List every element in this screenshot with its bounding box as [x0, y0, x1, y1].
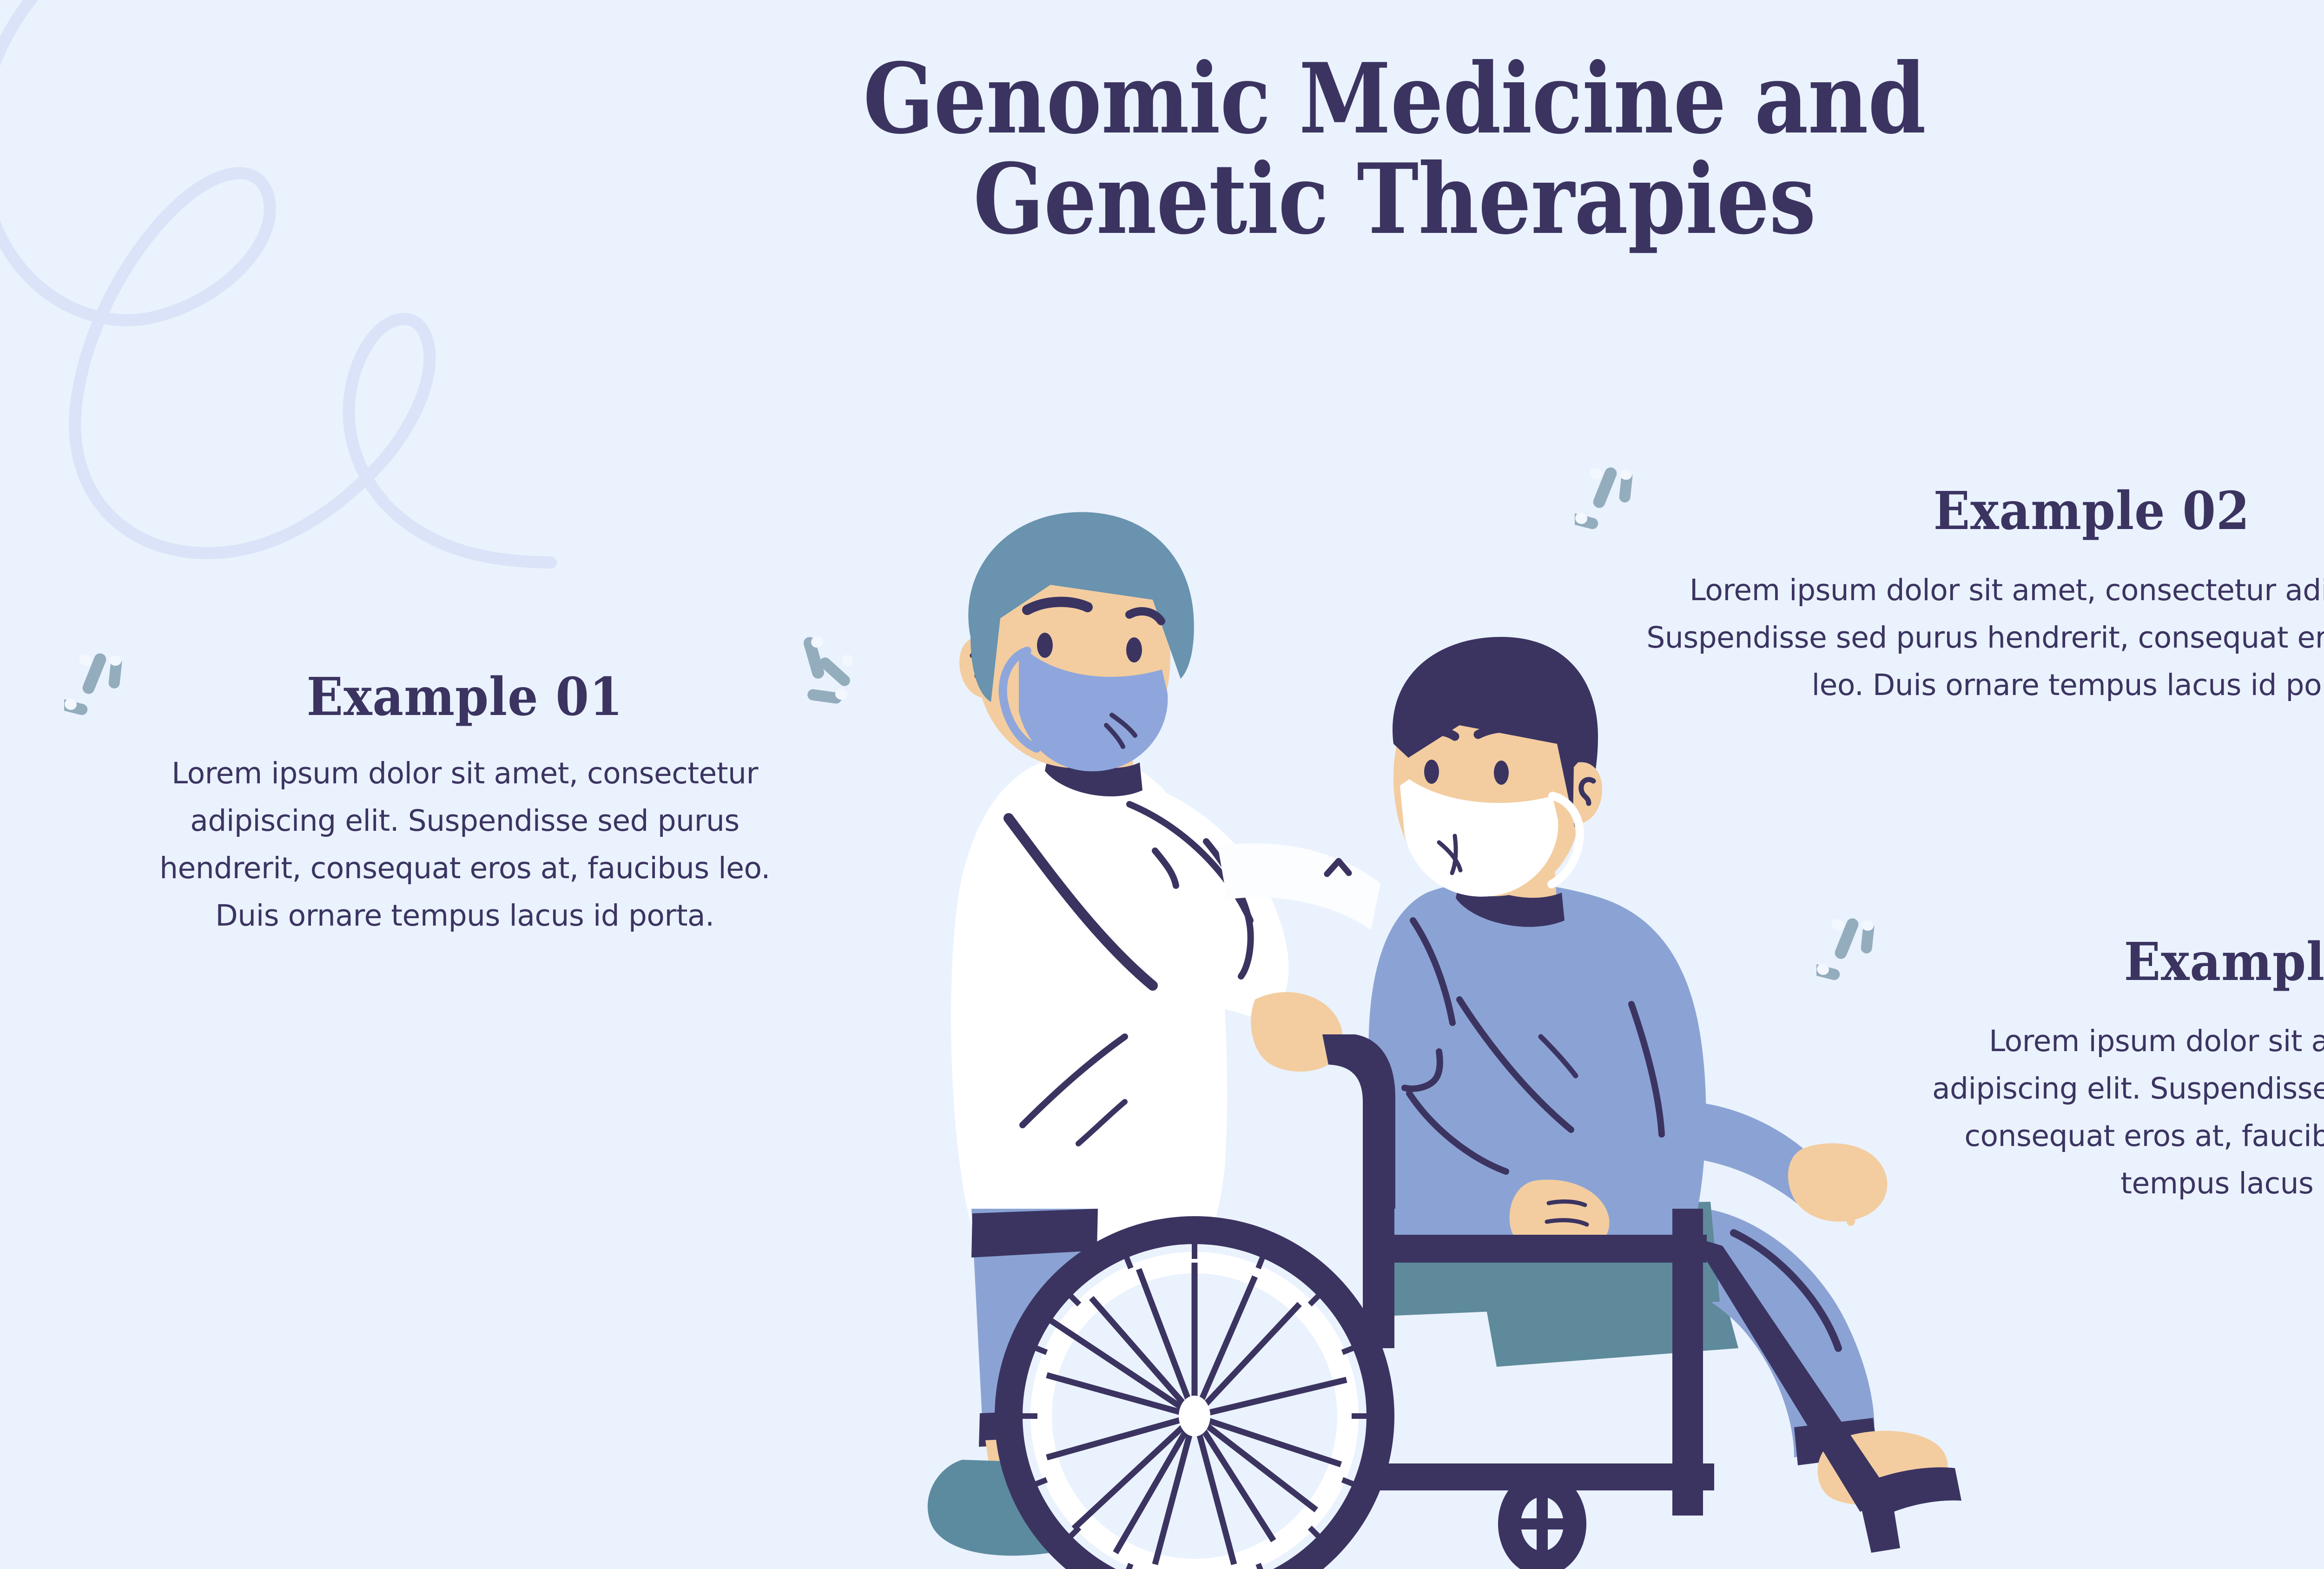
- example-heading-label: Example 01: [307, 671, 623, 723]
- example-body-text: Lorem ipsum dolor sit amet, consectetur …: [135, 750, 795, 940]
- sparkle-burst-icon: [1816, 914, 1886, 984]
- sparkle-burst-icon: [796, 635, 865, 704]
- page-title: Genomic Medicine and Genetic Therapies: [195, 49, 2324, 250]
- doctor-eye-right: [1126, 637, 1142, 662]
- doctor-leg-cuff-top: [971, 1209, 1098, 1258]
- example-block-01: Example 01 Lorem ipsum dolor sit amet, c…: [112, 653, 818, 940]
- patient-eye-left: [1424, 760, 1439, 784]
- sparkle-burst-icon: [1575, 463, 1644, 533]
- wheelchair-caster-fork: [1531, 1468, 1553, 1496]
- example-heading-row-01: Example 01: [112, 653, 818, 741]
- doctor-eye-left: [1037, 633, 1053, 658]
- example-heading-label: Example 03: [2124, 936, 2324, 988]
- sparkle-burst-icon: [64, 649, 134, 719]
- wheelchair-push-handle: [1322, 1034, 1395, 1209]
- doctor-pushing-patient-in-wheelchair-illustration: [809, 483, 2008, 1569]
- wheelchair-caster-spoke-h: [1514, 1518, 1570, 1529]
- example-heading-label: Example 02: [1934, 485, 2250, 537]
- wheelchair-side-rail: [1363, 1235, 1707, 1263]
- patient-eye-right: [1494, 761, 1509, 785]
- wheelchair-wheel-hub: [1179, 1396, 1210, 1437]
